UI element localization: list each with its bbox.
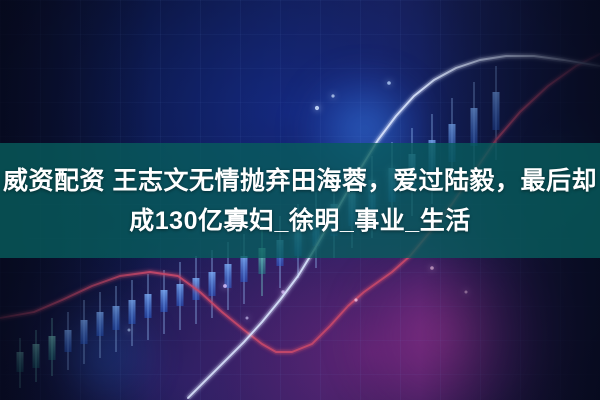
candle-body	[241, 256, 248, 282]
headline-line-2: 成130亿寡妇_徐明_事业_生活	[129, 201, 470, 241]
candle-body	[161, 290, 168, 312]
candle-body	[209, 272, 216, 296]
headline-line-1: 威资配资 王志文无情抛弃田海蓉，爱过陆毅，最后却	[0, 161, 600, 201]
banner-image: 威资配资 王志文无情抛弃田海蓉，爱过陆毅，最后却 成130亿寡妇_徐明_事业_生…	[0, 0, 600, 400]
candle-body	[177, 284, 184, 306]
headline-band: 威资配资 王志文无情抛弃田海蓉，爱过陆毅，最后却 成130亿寡妇_徐明_事业_生…	[0, 143, 600, 258]
